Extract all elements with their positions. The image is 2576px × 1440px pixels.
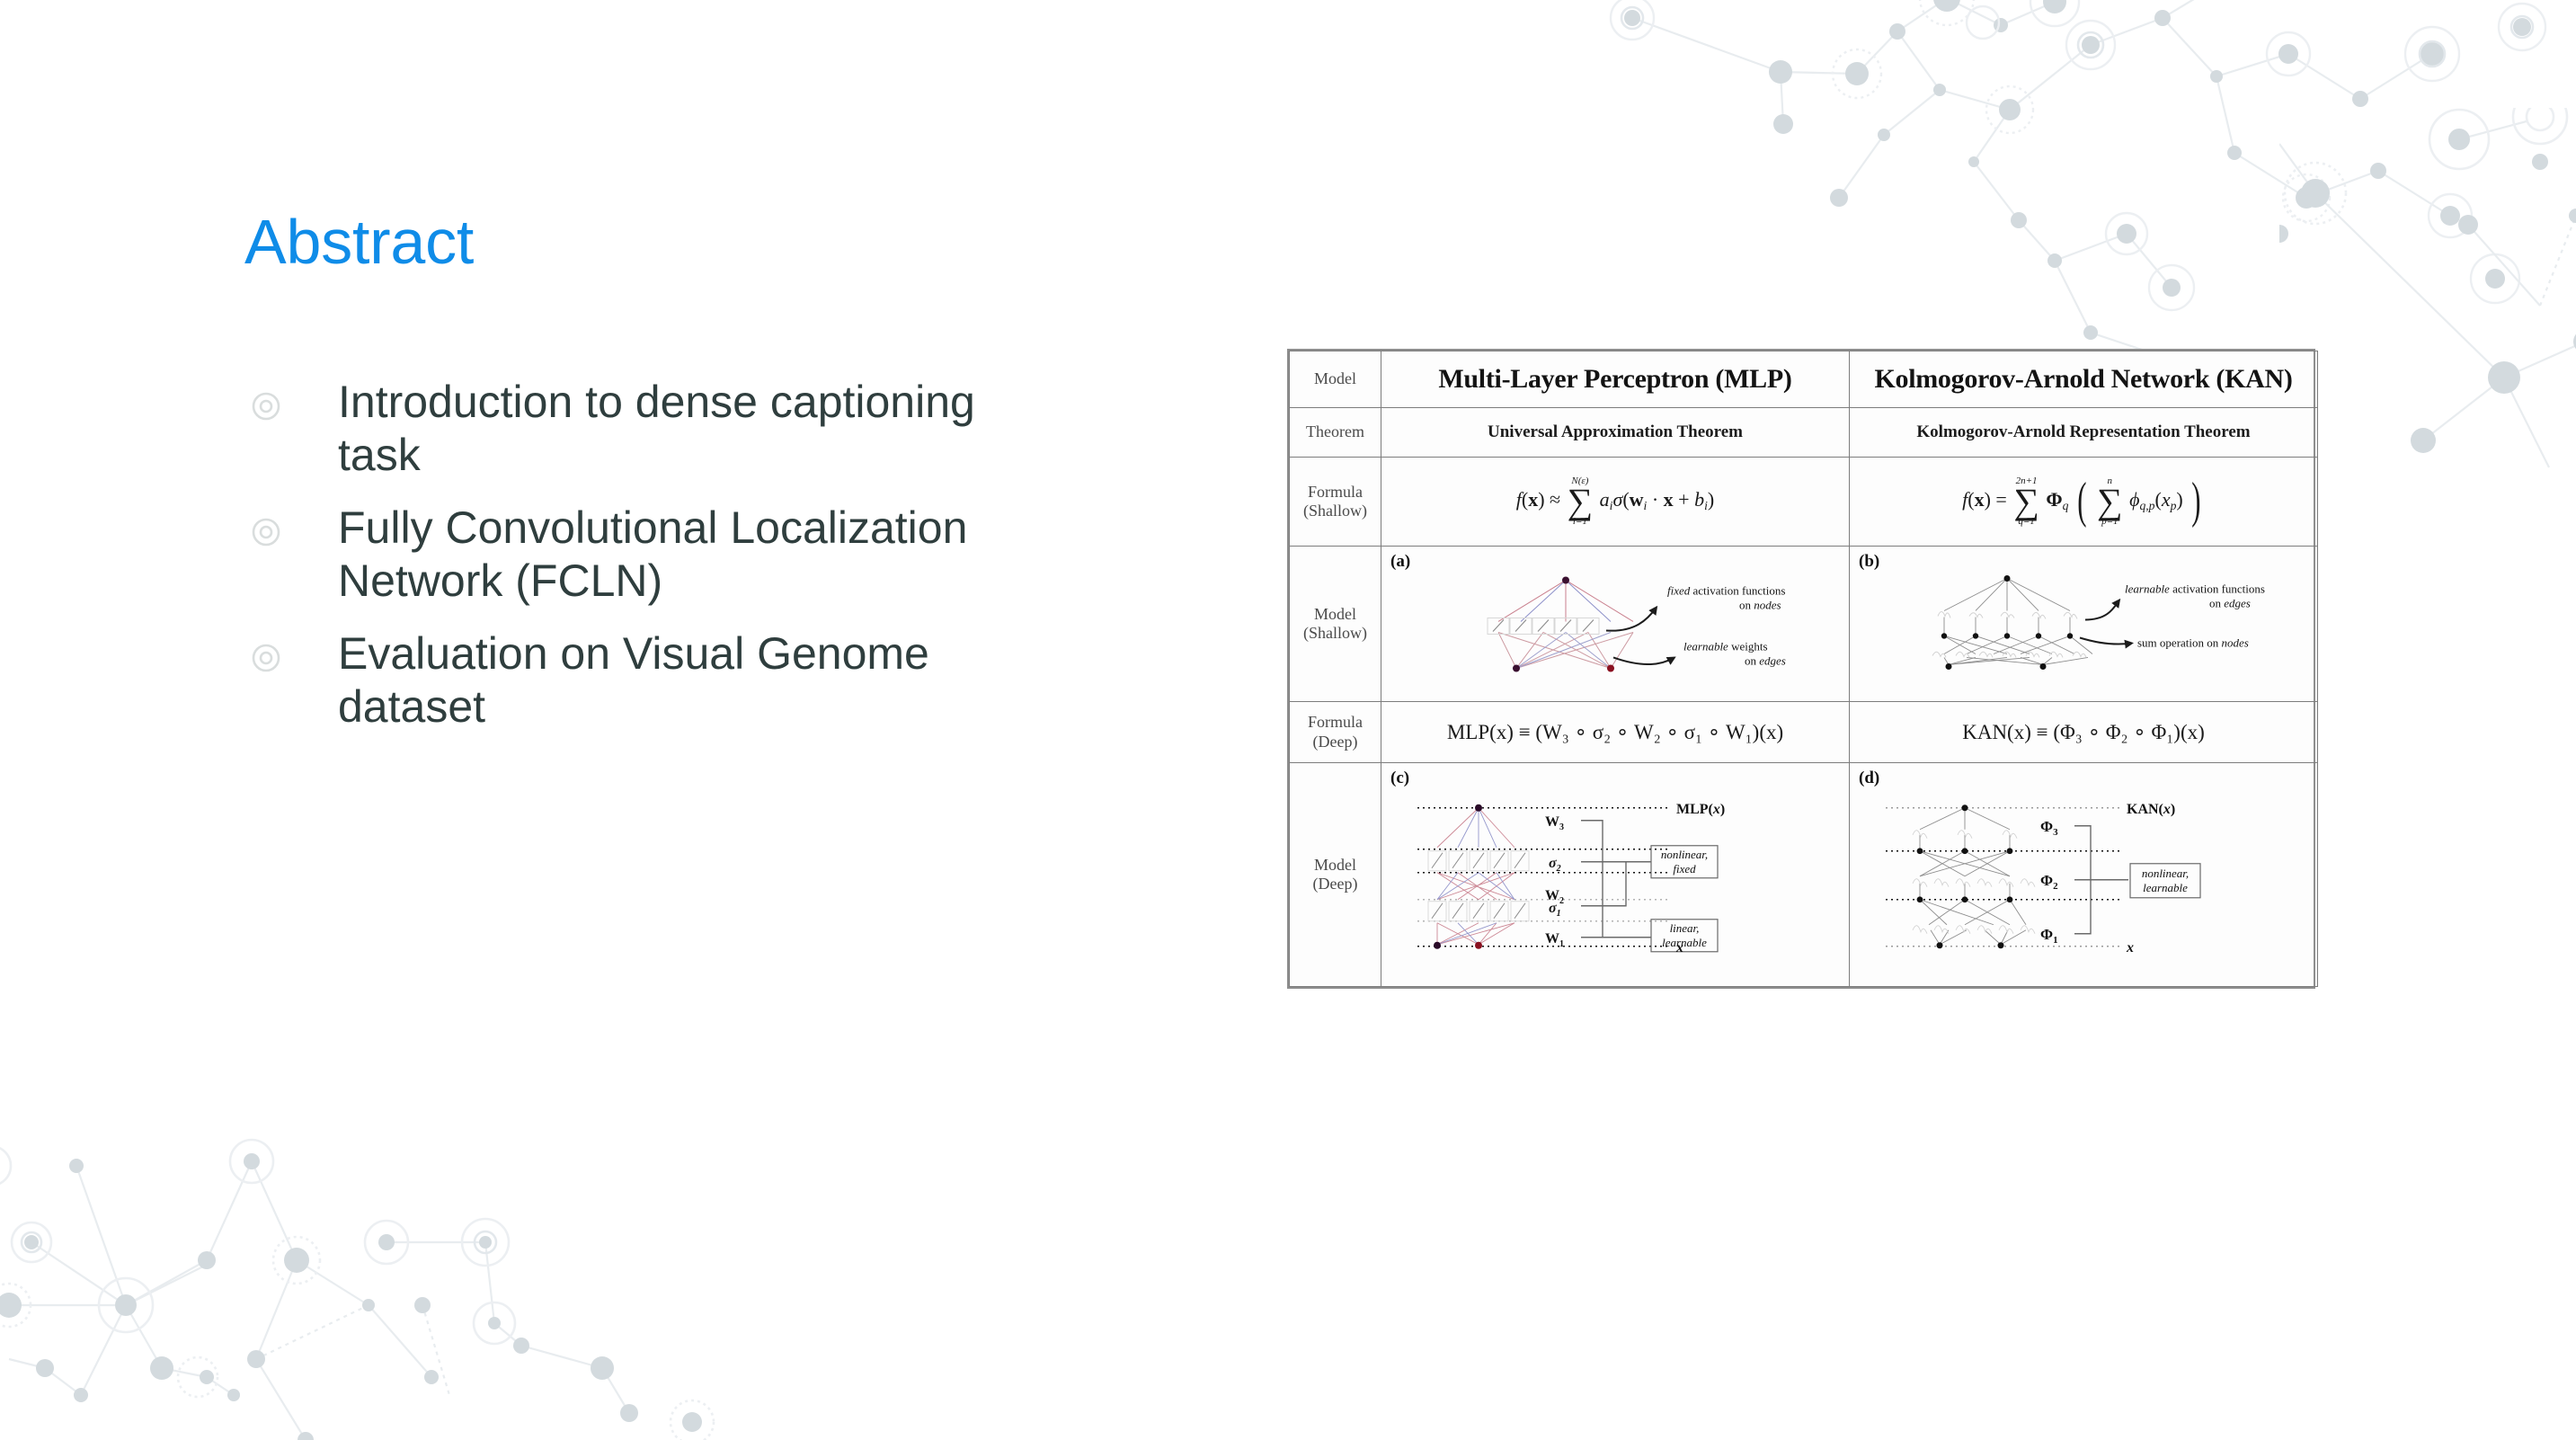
svg-text:learnable: learnable — [2143, 881, 2188, 894]
diagram-kan-shallow: (b) — [1850, 546, 2318, 701]
row-label-line1: Formula — [1308, 483, 1363, 501]
diagram-kan-deep: (d) — [1850, 763, 2318, 987]
row-label-line2: (Deep) — [1313, 875, 1358, 893]
row-label-formula-deep: Formula (Deep) — [1290, 701, 1381, 763]
row-label-line2: (Shallow) — [1303, 624, 1367, 642]
ring-bullet-icon — [250, 390, 282, 422]
svg-text:x: x — [1675, 940, 1683, 956]
svg-text:fixed: fixed — [1673, 862, 1696, 876]
table-row-model-shallow: Model (Shallow) (a) — [1290, 546, 2318, 701]
row-label-model-deep: Model (Deep) — [1290, 763, 1381, 987]
svg-text:on edges: on edges — [1745, 653, 1786, 667]
panel-tag-c: (c) — [1390, 769, 1409, 788]
row-label-line2: (Deep) — [1313, 733, 1358, 751]
svg-text:Φ3: Φ3 — [2040, 818, 2058, 838]
svg-text:learnable weights: learnable weights — [1683, 639, 1768, 653]
svg-text:Φ2: Φ2 — [2040, 872, 2058, 892]
summation-symbol: 2n+1 ∑ q=1 — [2013, 476, 2039, 527]
list-item-label: Evaluation on Visual Genome dataset — [338, 627, 996, 733]
list-item-label: Introduction to dense captioning task — [338, 376, 996, 482]
svg-text:nonlinear,: nonlinear, — [2142, 867, 2189, 880]
panel-tag-d: (d) — [1859, 769, 1879, 788]
formula-deep-mlp: MLP(x) ≡ (W₃ ∘ σ₂ ∘ W₂ ∘ σ₁ ∘ W₁)(x) — [1381, 701, 1850, 763]
table-row-formula-deep: Formula (Deep) MLP(x) ≡ (W₃ ∘ σ₂ ∘ W₂ ∘ … — [1290, 701, 2318, 763]
formula-shallow-kan: f(x) = 2n+1 ∑ q=1 Φq ( n ∑ p=1 ϕq,p(xp) … — [1850, 458, 2318, 547]
row-label-line1: Model — [1314, 856, 1356, 874]
svg-text:on nodes: on nodes — [1739, 598, 1781, 611]
theorem-kan: Kolmogorov-Arnold Representation Theorem — [1850, 408, 2318, 458]
svg-text:fixed activation functions: fixed activation functions — [1667, 583, 1785, 597]
panel-tag-b: (b) — [1859, 552, 1879, 572]
list-item: Introduction to dense captioning task — [250, 376, 996, 482]
formula-deep-kan: KAN(x) ≡ (Φ₃ ∘ Φ₂ ∘ Φ₁)(x) — [1850, 701, 2318, 763]
ring-bullet-icon — [250, 516, 282, 548]
column-header-kan: Kolmogorov-Arnold Network (KAN) — [1850, 351, 2318, 408]
kan-vs-mlp-comparison-table: Model Multi-Layer Perceptron (MLP) Kolmo… — [1287, 349, 2315, 989]
table-row-model: Model Multi-Layer Perceptron (MLP) Kolmo… — [1290, 351, 2318, 408]
svg-text:σ2: σ2 — [1549, 856, 1561, 874]
page-title: Abstract — [244, 209, 474, 276]
formula-shallow-mlp: f(x) ≈ N(ε) ∑ i=1 aiσ(wi · x + bi) — [1381, 458, 1850, 547]
ring-bullet-icon — [250, 642, 282, 674]
svg-text:MLP(x): MLP(x) — [1676, 802, 1725, 817]
row-label-model: Model — [1290, 351, 1381, 408]
summation-symbol: n ∑ p=1 — [2097, 476, 2123, 527]
column-header-mlp: Multi-Layer Perceptron (MLP) — [1381, 351, 1850, 408]
row-label-theorem: Theorem — [1290, 408, 1381, 458]
svg-text:x: x — [2126, 940, 2134, 956]
network-graph-decoration-top-right — [1587, 0, 2576, 378]
network-graph-decoration-bottom-left — [0, 1098, 845, 1440]
svg-text:KAN(x): KAN(x) — [2127, 802, 2175, 817]
row-label-formula-shallow: Formula (Shallow) — [1290, 458, 1381, 547]
summation-symbol: N(ε) ∑ i=1 — [1568, 476, 1594, 527]
list-item: Evaluation on Visual Genome dataset — [250, 627, 996, 733]
row-label-model-shallow: Model (Shallow) — [1290, 546, 1381, 701]
list-item-label: Fully Convolutional Localization Network… — [338, 502, 996, 608]
row-label-line1: Formula — [1308, 713, 1363, 731]
svg-text:sum operation on nodes: sum operation on nodes — [2137, 636, 2249, 649]
svg-text:linear,: linear, — [1670, 921, 1700, 935]
table-row-theorem: Theorem Universal Approximation Theorem … — [1290, 408, 2318, 458]
theorem-mlp: Universal Approximation Theorem — [1381, 408, 1850, 458]
svg-text:W3: W3 — [1545, 814, 1564, 832]
list-item: Fully Convolutional Localization Network… — [250, 502, 996, 608]
table-row-formula-shallow: Formula (Shallow) f(x) ≈ N(ε) ∑ i=1 aiσ(… — [1290, 458, 2318, 547]
abstract-bullet-list: Introduction to dense captioning task Fu… — [250, 376, 996, 753]
table-row-model-deep: Model (Deep) (c) — [1290, 763, 2318, 987]
svg-text:learnable: learnable — [1662, 936, 1707, 949]
row-label-line1: Model — [1314, 605, 1356, 623]
network-graph-decoration-right — [2279, 108, 2576, 485]
svg-text:Φ1: Φ1 — [2040, 926, 2058, 946]
diagram-mlp-shallow: (a) — [1381, 546, 1850, 701]
svg-text:on edges: on edges — [2209, 596, 2251, 609]
row-label-line2: (Shallow) — [1303, 502, 1367, 520]
svg-text:learnable activation functions: learnable activation functions — [2125, 582, 2265, 595]
svg-text:nonlinear,: nonlinear, — [1661, 848, 1708, 861]
panel-tag-a: (a) — [1390, 552, 1410, 572]
diagram-mlp-deep: (c) — [1381, 763, 1850, 987]
